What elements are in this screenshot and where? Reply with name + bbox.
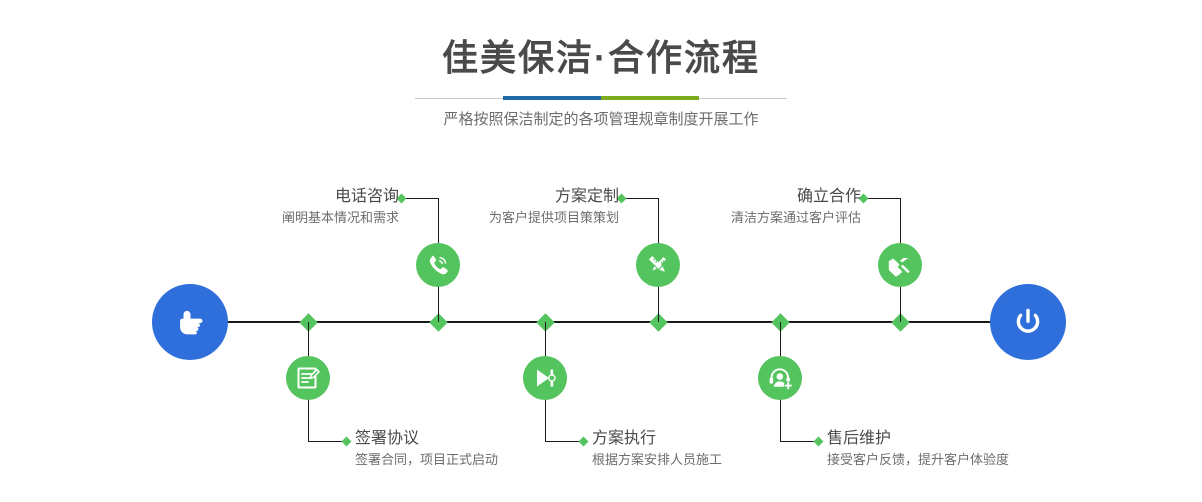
- step-title: 方案执行: [592, 428, 842, 450]
- play-execute-icon: [532, 365, 558, 391]
- step-node-2[interactable]: [286, 356, 330, 400]
- divider-segment-green: [601, 96, 699, 100]
- step-label-1: 电话咨询 阐明基本情况和需求: [181, 186, 399, 228]
- label-connector-dot: [341, 436, 351, 446]
- step-node-3[interactable]: [636, 243, 680, 287]
- step-label-2: 签署协议 签署合同，项目正式启动: [355, 428, 605, 470]
- handshake-icon: [887, 252, 914, 279]
- customer-service-icon: [767, 365, 794, 392]
- step-title: 电话咨询: [181, 186, 399, 208]
- step-desc: 阐明基本情况和需求: [181, 208, 399, 228]
- title-divider: [415, 96, 787, 100]
- timeline-end-badge: [990, 284, 1066, 360]
- step-node-5[interactable]: [878, 243, 922, 287]
- label-connector: [900, 198, 901, 242]
- step-label-6: 售后维护 接受客户反馈，提升客户体验度: [827, 428, 1107, 470]
- step-desc: 签署合同，项目正式启动: [355, 450, 605, 470]
- power-icon: [1008, 302, 1048, 342]
- pencil-ruler-icon: [645, 252, 671, 278]
- page-subtitle: 严格按照保洁制定的各项管理规章制度开展工作: [0, 108, 1202, 132]
- step-title: 签署协议: [355, 428, 605, 450]
- flow-diagram-canvas: 佳美保洁·合作流程 严格按照保洁制定的各项管理规章制度开展工作: [0, 0, 1202, 502]
- document-sign-icon: [295, 365, 321, 391]
- step-label-3: 方案定制 为客户提供项目策策划: [401, 186, 619, 228]
- phone-call-icon: [425, 252, 451, 278]
- page-title: 佳美保洁·合作流程: [0, 36, 1202, 80]
- step-desc: 接受客户反馈，提升客户体验度: [827, 450, 1107, 470]
- step-label-5: 确立合作 清洁方案通过客户评估: [643, 186, 861, 228]
- divider-segment-blue: [503, 96, 601, 100]
- step-title: 方案定制: [401, 186, 619, 208]
- step-node-1[interactable]: [416, 243, 460, 287]
- step-desc: 根据方案安排人员施工: [592, 450, 842, 470]
- step-title: 售后维护: [827, 428, 1107, 450]
- label-connector: [308, 404, 309, 442]
- timeline-start-badge: [152, 284, 228, 360]
- step-node-4[interactable]: [523, 356, 567, 400]
- step-desc: 清洁方案通过客户评估: [643, 208, 861, 228]
- step-node-6[interactable]: [758, 356, 802, 400]
- pointing-hand-icon: [170, 302, 210, 342]
- step-title: 确立合作: [643, 186, 861, 208]
- step-label-4: 方案执行 根据方案安排人员施工: [592, 428, 842, 470]
- step-desc: 为客户提供项目策策划: [401, 208, 619, 228]
